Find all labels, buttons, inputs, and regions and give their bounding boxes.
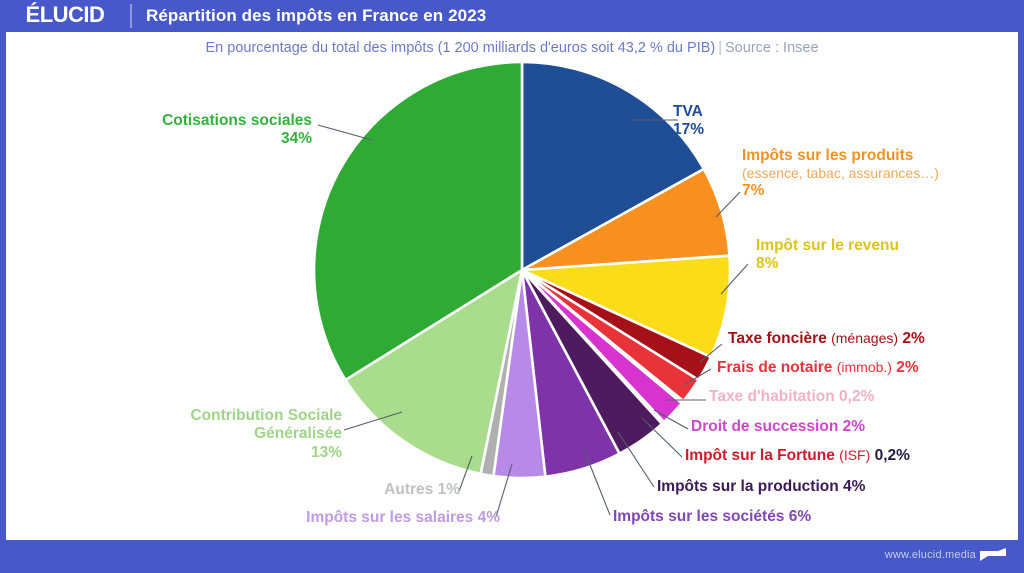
label-impots-salaires-name: Impôts sur les salaires [306, 509, 473, 526]
label-impots-societes-value: 6% [789, 508, 811, 525]
label-autres: Autres 1% [160, 481, 460, 499]
label-taxe-fonciere: Taxe foncière (ménages) 2% [728, 330, 925, 348]
label-taxe-habitation: Taxe d'habitation 0,2% [709, 388, 874, 406]
label-impots-societes: Impôts sur les sociétés 6% [613, 508, 811, 526]
label-impot-fortune-detail: (ISF) [839, 447, 870, 463]
label-cotisations-sociales-value: 34% [16, 130, 312, 148]
label-csg: Contribution Sociale Généralisée 13% [30, 407, 342, 462]
label-taxe-fonciere-name: Taxe foncière [728, 330, 827, 347]
label-frais-notaire-detail: (immob.) [837, 359, 892, 375]
label-impot-fortune-value: 0,2% [875, 447, 910, 464]
label-impots-salaires: Impôts sur les salaires 4% [120, 509, 500, 527]
label-impots-societes-name: Impôts sur les sociétés [613, 508, 784, 525]
label-impot-revenu: Impôt sur le revenu 8% [756, 237, 899, 274]
label-droit-succession: Droit de succession 2% [691, 418, 865, 436]
label-cotisations-sociales-name: Cotisations sociales [16, 112, 312, 130]
watermark-text: www.elucid.media [885, 549, 976, 561]
logo-divider [130, 4, 132, 28]
label-impot-fortune-name: Impôt sur la Fortune [685, 447, 835, 464]
label-impots-produits-value: 7% [742, 182, 939, 200]
label-frais-notaire-name: Frais de notaire [717, 359, 832, 376]
label-tva-name: TVA [673, 103, 704, 121]
chart-canvas: En pourcentage du total des impôts (1 20… [6, 32, 1018, 540]
label-impot-revenu-name: Impôt sur le revenu [756, 237, 899, 255]
label-impot-revenu-value: 8% [756, 255, 899, 273]
label-taxe-fonciere-detail: (ménages) [831, 330, 898, 346]
elucid-logo: ÉLUCID [0, 4, 130, 28]
label-autres-value: 1% [438, 481, 460, 498]
label-impot-fortune: Impôt sur la Fortune (ISF) 0,2% [685, 447, 910, 465]
label-csg-value: 13% [30, 444, 342, 462]
label-impots-produits-detail: (essence, tabac, assurances…) [742, 165, 939, 182]
label-cotisations-sociales: Cotisations sociales 34% [16, 112, 312, 149]
infographic-page: ÉLUCID Répartition des impôts en France … [0, 0, 1024, 573]
label-frais-notaire: Frais de notaire (immob.) 2% [717, 359, 919, 377]
label-impots-produits-name: Impôts sur les produits [742, 147, 939, 165]
label-impots-production-name: Impôts sur la production [657, 478, 839, 495]
page-title: Répartition des impôts en France en 2023 [146, 6, 486, 26]
label-impots-production-value: 4% [843, 478, 865, 495]
label-tva: TVA 17% [673, 103, 704, 140]
label-tva-value: 17% [673, 121, 704, 139]
footer-bar: www.elucid.media [0, 540, 1024, 573]
label-droit-succession-value: 2% [843, 418, 865, 435]
label-taxe-habitation-name: Taxe d'habitation [709, 388, 835, 405]
label-impots-produits: Impôts sur les produits (essence, tabac,… [742, 147, 939, 200]
label-taxe-fonciere-value: 2% [902, 330, 924, 347]
label-csg-name2: Généralisée [30, 425, 342, 443]
label-frais-notaire-value: 2% [896, 359, 918, 376]
label-droit-succession-name: Droit de succession [691, 418, 838, 435]
label-csg-name: Contribution Sociale [30, 407, 342, 425]
header-bar: ÉLUCID Répartition des impôts en France … [0, 0, 1024, 32]
arrow-logo-icon [980, 548, 1006, 563]
label-taxe-habitation-value: 0,2% [839, 388, 874, 405]
label-autres-name: Autres [384, 481, 433, 498]
label-impots-salaires-value: 4% [478, 509, 500, 526]
label-impots-production: Impôts sur la production 4% [657, 478, 865, 496]
